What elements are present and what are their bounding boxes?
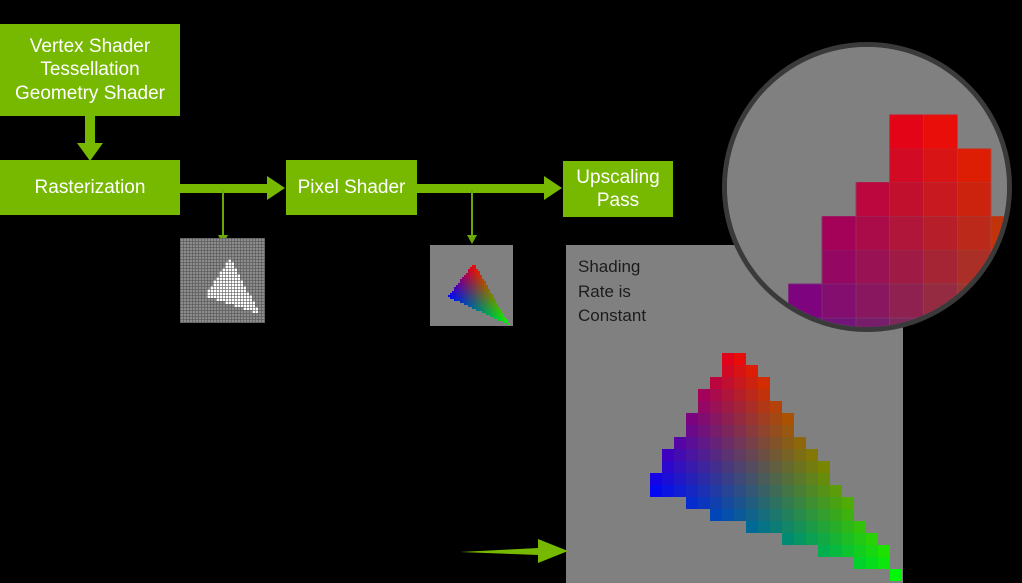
magnifier-circle bbox=[722, 42, 1012, 332]
arrow-rasterization-to-thumbnail bbox=[222, 190, 224, 236]
stage-label-upscaling-line1: Upscaling bbox=[563, 166, 673, 189]
stage-label-upscaling-line2: Pass bbox=[563, 189, 673, 212]
rasterized-triangle-thumbnail bbox=[180, 238, 265, 323]
arrow-vertex-to-rasterization bbox=[85, 116, 95, 144]
panel-label: Shading Rate is Constant bbox=[578, 255, 646, 329]
stage-label-line2: Tessellation bbox=[0, 58, 180, 81]
stage-box-pixel-shader[interactable]: Pixel Shader bbox=[286, 160, 417, 215]
shaded-triangle-thumbnail bbox=[430, 245, 513, 326]
arrow-pixel-shader-to-upscaling bbox=[417, 184, 545, 193]
diagram-canvas: Vertex Shader Tessellation Geometry Shad… bbox=[0, 0, 1022, 583]
stage-label-pixel-shader: Pixel Shader bbox=[286, 176, 417, 199]
panel-label-line2: Rate is bbox=[578, 280, 646, 305]
arrow-upscale-to-panel bbox=[460, 536, 568, 566]
panel-label-line3: Constant bbox=[578, 304, 646, 329]
stage-box-rasterization[interactable]: Rasterization bbox=[0, 160, 180, 215]
stage-label-line1: Vertex Shader bbox=[0, 35, 180, 58]
stage-label-rasterization: Rasterization bbox=[0, 176, 180, 199]
arrow-pixel-shader-to-thumbnail bbox=[471, 190, 473, 236]
stage-label-line3: Geometry Shader bbox=[0, 82, 180, 105]
arrow-rasterization-to-pixel-shader bbox=[180, 184, 268, 193]
stage-box-vertex-shader[interactable]: Vertex Shader Tessellation Geometry Shad… bbox=[0, 24, 180, 116]
panel-label-line1: Shading bbox=[578, 255, 646, 280]
stage-box-upscaling-pass[interactable]: Upscaling Pass bbox=[563, 161, 673, 217]
